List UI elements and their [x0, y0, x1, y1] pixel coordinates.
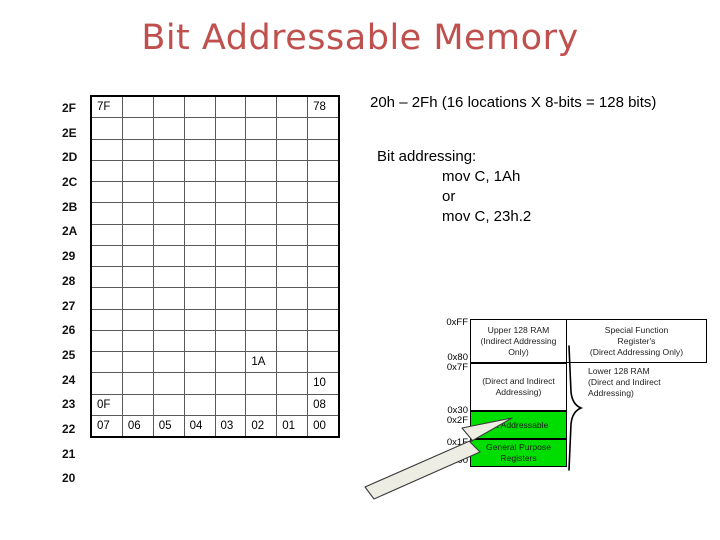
bit-grid-row: 7F78	[92, 97, 338, 118]
bit-grid-cell	[154, 246, 185, 266]
bit-grid-row-label: 2A	[62, 219, 88, 244]
bit-grid-cell	[92, 140, 123, 160]
callout-arrow-to-bit-addressable	[362, 414, 514, 506]
bit-grid-cell	[216, 97, 247, 117]
bit-grid-cell	[154, 225, 185, 245]
bit-grid-row	[92, 288, 338, 309]
bit-grid-cell	[277, 373, 308, 393]
bit-grid-cell	[308, 225, 338, 245]
bit-grid-cell	[277, 161, 308, 181]
bit-addressing-example-2: mov C, 23h.2	[377, 207, 670, 227]
bit-grid-row-labels: 2F2E2D2C2B2A29282726252423222120	[62, 96, 88, 491]
bit-grid-cell	[185, 140, 216, 160]
bit-grid-cell	[92, 182, 123, 202]
bit-grid-cell	[277, 97, 308, 117]
bit-grid-cell	[154, 288, 185, 308]
description-block: 20h – 2Fh (16 locations X 8-bits = 128 b…	[370, 93, 670, 227]
bit-grid-cell	[277, 246, 308, 266]
bit-grid-cell	[308, 118, 338, 138]
bit-grid-row	[92, 118, 338, 139]
bit-grid-cell	[216, 118, 247, 138]
bit-grid-row-label: 22	[62, 417, 88, 442]
bit-grid-cell	[185, 288, 216, 308]
bit-grid-cell	[308, 288, 338, 308]
bit-grid-cell	[123, 203, 154, 223]
bit-grid-row-label: 2E	[62, 121, 88, 146]
bit-grid-cell	[246, 395, 277, 415]
bit-grid-cell	[277, 288, 308, 308]
bit-grid-row	[92, 140, 338, 161]
bit-grid-cell	[246, 161, 277, 181]
bit-grid-cell	[308, 182, 338, 202]
bit-grid-cell	[185, 203, 216, 223]
bit-grid-row	[92, 310, 338, 331]
bit-grid-cell	[123, 267, 154, 287]
bit-grid-cell: 07	[92, 416, 123, 436]
bit-grid-cell	[246, 331, 277, 351]
bit-grid-row	[92, 161, 338, 182]
bit-grid-row: 1A	[92, 352, 338, 373]
bit-grid-row-label: 27	[62, 294, 88, 319]
bit-grid-cell	[246, 97, 277, 117]
bit-grid-row-label: 2F	[62, 96, 88, 121]
bit-grid-cell	[92, 331, 123, 351]
bit-addressing-block: Bit addressing: mov C, 1Ah or mov C, 23h…	[370, 147, 670, 227]
bit-grid-cell: 0F	[92, 395, 123, 415]
bit-grid-cell	[154, 310, 185, 330]
bit-grid-cell	[277, 140, 308, 160]
bit-grid-cell	[308, 246, 338, 266]
bit-grid-cell	[277, 267, 308, 287]
bit-grid-cell	[216, 331, 247, 351]
bit-grid-cell	[92, 203, 123, 223]
bit-grid-cell	[308, 267, 338, 287]
bit-grid-row	[92, 246, 338, 267]
page-title: Bit Addressable Memory	[0, 18, 720, 58]
bit-grid-cell	[123, 225, 154, 245]
bit-grid-cell	[185, 161, 216, 181]
bit-grid-cell	[185, 225, 216, 245]
bit-grid-cell	[216, 288, 247, 308]
bit-grid-cell	[216, 310, 247, 330]
bit-grid-cell	[216, 182, 247, 202]
bit-grid-cell	[123, 182, 154, 202]
bit-grid-cell	[216, 267, 247, 287]
mm-address-0x7f: 0x7F	[438, 362, 468, 373]
bit-grid-row: 0F08	[92, 395, 338, 416]
bit-grid-cell	[216, 352, 247, 372]
bit-grid-cell	[92, 118, 123, 138]
bit-grid-cell: 05	[154, 416, 185, 436]
bit-grid-cell: 02	[246, 416, 277, 436]
bit-grid-cell: 1A	[246, 352, 277, 372]
bit-grid-cell	[123, 246, 154, 266]
bit-grid-cell	[92, 373, 123, 393]
bit-grid-cell: 00	[308, 416, 338, 436]
bit-grid-cell	[185, 182, 216, 202]
bit-grid-cell	[308, 352, 338, 372]
bit-grid-cell	[246, 225, 277, 245]
bit-grid-cell: 7F	[92, 97, 123, 117]
bit-grid-cell	[246, 118, 277, 138]
bit-grid-row-label: 25	[62, 343, 88, 368]
bit-grid-row-label: 20	[62, 466, 88, 491]
bit-grid-cell	[185, 373, 216, 393]
bit-grid-row-label: 29	[62, 244, 88, 269]
bit-grid-cell	[92, 288, 123, 308]
bit-grid-row-label: 21	[62, 442, 88, 467]
bit-grid-cell	[92, 161, 123, 181]
bit-grid-cell: 78	[308, 97, 338, 117]
bit-grid-cell	[123, 161, 154, 181]
bit-grid-cell	[123, 288, 154, 308]
bit-grid-cell	[185, 267, 216, 287]
bit-grid-cell: 06	[123, 416, 154, 436]
bit-grid-cell	[216, 140, 247, 160]
bit-grid-cell	[246, 203, 277, 223]
bit-grid-cell	[246, 373, 277, 393]
mm-lower-ram-brace	[567, 344, 589, 472]
bit-grid-row	[92, 267, 338, 288]
bit-grid-cell	[123, 140, 154, 160]
bit-grid-row	[92, 182, 338, 203]
bit-grid-cell	[185, 395, 216, 415]
bit-grid-cell	[123, 395, 154, 415]
mm-block-direct-indirect: (Direct and IndirectAddressing)	[470, 363, 567, 411]
bit-grid-cell	[92, 267, 123, 287]
bit-grid-cell	[277, 225, 308, 245]
bit-grid-row-label: 26	[62, 318, 88, 343]
bit-grid-cell	[123, 310, 154, 330]
bit-grid-cell	[154, 352, 185, 372]
bit-grid-cell	[216, 225, 247, 245]
bit-grid-cell	[216, 161, 247, 181]
bit-grid-row	[92, 203, 338, 224]
bit-grid-cell	[246, 140, 277, 160]
bit-grid-row-label: 23	[62, 392, 88, 417]
bit-grid-cell	[277, 352, 308, 372]
bit-grid-cell	[185, 118, 216, 138]
bit-grid-cell	[246, 246, 277, 266]
bit-addressable-grid: 7F781A100F080706050403020100	[90, 95, 340, 438]
bit-grid-cell	[277, 203, 308, 223]
bit-grid-cell	[92, 310, 123, 330]
bit-grid-cell	[185, 310, 216, 330]
bit-grid-cell: 01	[277, 416, 308, 436]
bit-grid-cell	[154, 140, 185, 160]
bit-grid-cell: 08	[308, 395, 338, 415]
bit-grid-row: 10	[92, 373, 338, 394]
bit-grid-cell	[308, 331, 338, 351]
bit-grid-row-label: 2C	[62, 170, 88, 195]
bit-grid-cell	[308, 161, 338, 181]
bit-grid-cell	[154, 97, 185, 117]
bit-grid-cell	[154, 182, 185, 202]
address-range-text: 20h – 2Fh (16 locations X 8-bits = 128 b…	[370, 93, 660, 113]
bit-grid-cell	[185, 331, 216, 351]
bit-grid-row	[92, 331, 338, 352]
bit-grid-cell	[308, 140, 338, 160]
mm-block-direct-indirect-label: (Direct and IndirectAddressing)	[482, 376, 555, 398]
bit-grid-cell	[277, 395, 308, 415]
bit-grid-cell	[216, 395, 247, 415]
bit-grid-cell	[308, 310, 338, 330]
bit-grid-row-label: 2D	[62, 145, 88, 170]
bit-grid-cell	[185, 97, 216, 117]
bit-grid-cell	[246, 267, 277, 287]
bit-grid-cell	[246, 182, 277, 202]
bit-grid-cell	[154, 331, 185, 351]
bit-grid-cell	[154, 395, 185, 415]
bit-grid-cell: 10	[308, 373, 338, 393]
bit-grid-row	[92, 225, 338, 246]
bit-grid-row: 0706050403020100	[92, 416, 338, 436]
bit-grid-row-label: 24	[62, 368, 88, 393]
bit-grid-cell	[277, 118, 308, 138]
bit-grid-cell	[246, 288, 277, 308]
bit-grid-cell: 03	[216, 416, 247, 436]
mm-lower-128-ram-label: Lower 128 RAM(Direct and IndirectAddress…	[588, 366, 698, 399]
bit-grid-cell	[185, 246, 216, 266]
bit-grid-cell	[154, 203, 185, 223]
bit-grid-row-label: 2B	[62, 195, 88, 220]
mm-block-sfr-label: Special FunctionRegister's(Direct Addres…	[590, 325, 683, 358]
bit-grid-cell	[92, 246, 123, 266]
mm-address-0xff: 0xFF	[438, 317, 468, 328]
bit-grid-cell	[277, 310, 308, 330]
bit-grid-cell	[123, 373, 154, 393]
bit-grid-cell	[154, 161, 185, 181]
bit-grid-cell	[92, 225, 123, 245]
bit-grid-cell: 04	[185, 416, 216, 436]
bit-grid-cell	[216, 203, 247, 223]
bit-addressing-heading: Bit addressing:	[377, 147, 670, 167]
bit-grid-cell	[216, 246, 247, 266]
bit-grid-cell	[246, 310, 277, 330]
bit-grid-row-label: 28	[62, 269, 88, 294]
bit-grid-cell	[277, 331, 308, 351]
mm-block-upper-128-ram: Upper 128 RAM(Indirect AddressingOnly)	[470, 319, 567, 363]
bit-addressing-or: or	[377, 187, 670, 207]
bit-grid-cell	[185, 352, 216, 372]
bit-grid-cell	[216, 373, 247, 393]
bit-addressing-example-1: mov C, 1Ah	[377, 167, 670, 187]
bit-grid-cell	[92, 352, 123, 372]
bit-grid-cell	[308, 203, 338, 223]
bit-grid-cell	[123, 352, 154, 372]
bit-grid-cell	[123, 118, 154, 138]
bit-grid-cell	[277, 182, 308, 202]
bit-grid-cell	[123, 331, 154, 351]
mm-block-upper-128-ram-label: Upper 128 RAM(Indirect AddressingOnly)	[481, 325, 557, 358]
bit-grid-cell	[123, 97, 154, 117]
bit-grid-cell	[154, 267, 185, 287]
bit-grid-cell	[154, 373, 185, 393]
bit-grid-cell	[154, 118, 185, 138]
